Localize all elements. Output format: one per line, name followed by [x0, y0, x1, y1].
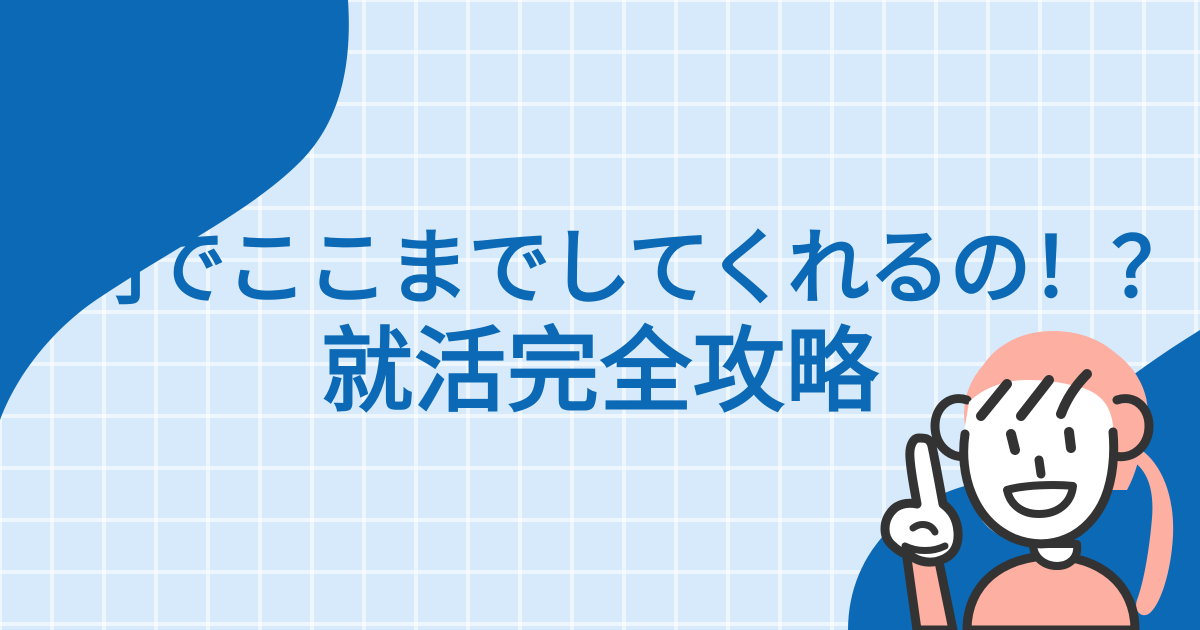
- eye-left-shape: [1011, 434, 1015, 450]
- pointing-girl-illustration: [855, 322, 1200, 630]
- top-left-swoosh-shape: [0, 0, 349, 420]
- banner-canvas: 0円でここまでしてくれるの！？ 就活完全攻略: [0, 0, 1200, 630]
- mouth-shape: [1007, 485, 1073, 514]
- eye-right-shape: [1069, 432, 1071, 448]
- nose-shape: [1039, 460, 1041, 474]
